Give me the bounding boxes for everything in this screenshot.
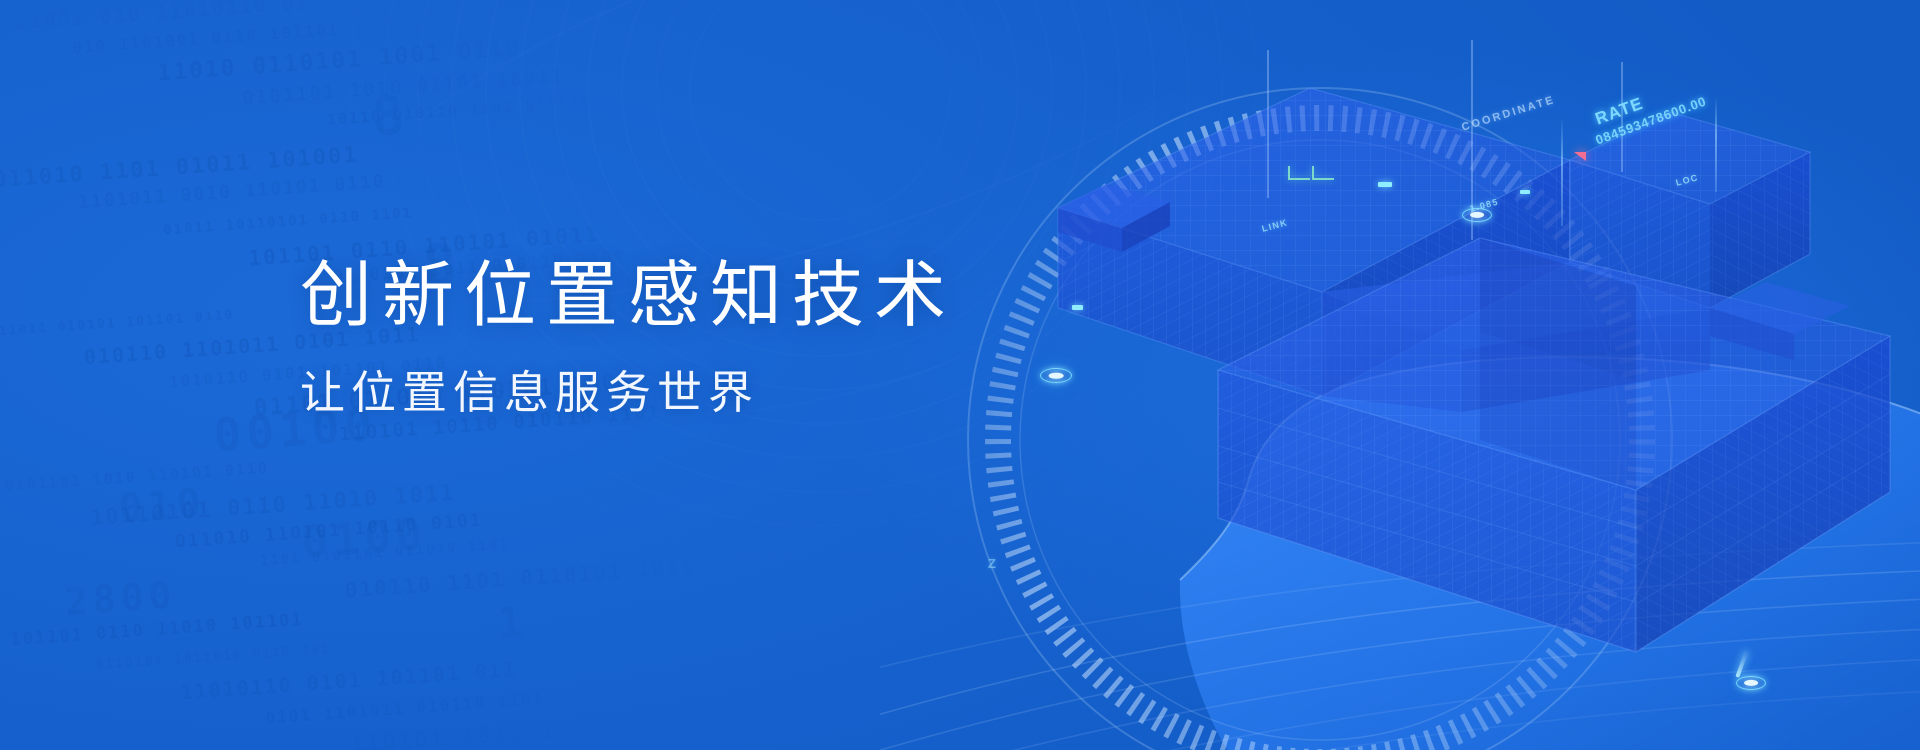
page-subtitle: 让位置信息服务世界 <box>300 368 1060 418</box>
hero-copy: 创新位置感知技术 让位置信息服务世界 <box>300 258 1060 418</box>
hero-banner: 01001 10110 0101101 10011011001 010 1101… <box>0 0 1920 750</box>
page-title: 创新位置感知技术 <box>300 258 1060 336</box>
